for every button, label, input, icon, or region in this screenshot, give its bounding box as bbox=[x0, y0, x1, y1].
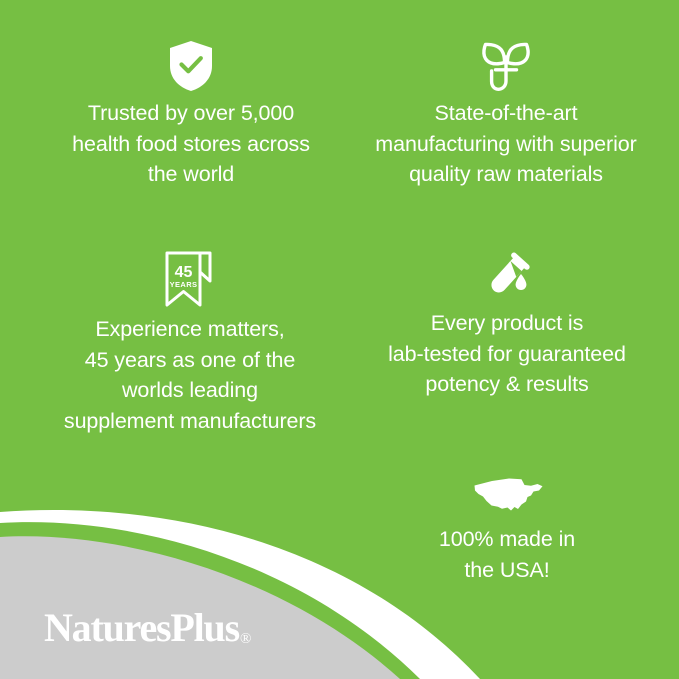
badge-label: YEARS bbox=[170, 280, 198, 289]
usa-map-icon bbox=[352, 472, 662, 518]
feature-caption: Every product is lab-tested for guarante… bbox=[352, 308, 662, 400]
shield-check-icon bbox=[36, 40, 346, 92]
45-years-banner-icon: 45 YEARS bbox=[34, 250, 346, 308]
test-tube-drop-icon bbox=[352, 250, 662, 302]
registered-trademark-icon: ® bbox=[240, 631, 251, 647]
feature-caption: 100% made in the USA! bbox=[352, 524, 662, 585]
feature-experience: 45 YEARS Experience matters, 45 years as… bbox=[34, 250, 346, 436]
feature-caption: State-of-the-art manufacturing with supe… bbox=[350, 98, 662, 190]
brand-logo-text: NaturesPlus bbox=[44, 605, 239, 650]
feature-trusted: Trusted by over 5,000 health food stores… bbox=[36, 40, 346, 190]
product-feature-infographic: Trusted by over 5,000 health food stores… bbox=[0, 0, 679, 679]
sprout-icon bbox=[350, 40, 662, 92]
feature-lab-tested: Every product is lab-tested for guarante… bbox=[352, 250, 662, 400]
feature-caption: Experience matters, 45 years as one of t… bbox=[34, 314, 346, 436]
feature-caption: Trusted by over 5,000 health food stores… bbox=[36, 98, 346, 190]
badge-number: 45 bbox=[175, 264, 193, 281]
feature-state-of-the-art: State-of-the-art manufacturing with supe… bbox=[350, 40, 662, 190]
brand-logo[interactable]: NaturesPlus® bbox=[44, 608, 250, 648]
feature-made-in-usa: 100% made in the USA! bbox=[352, 472, 662, 585]
